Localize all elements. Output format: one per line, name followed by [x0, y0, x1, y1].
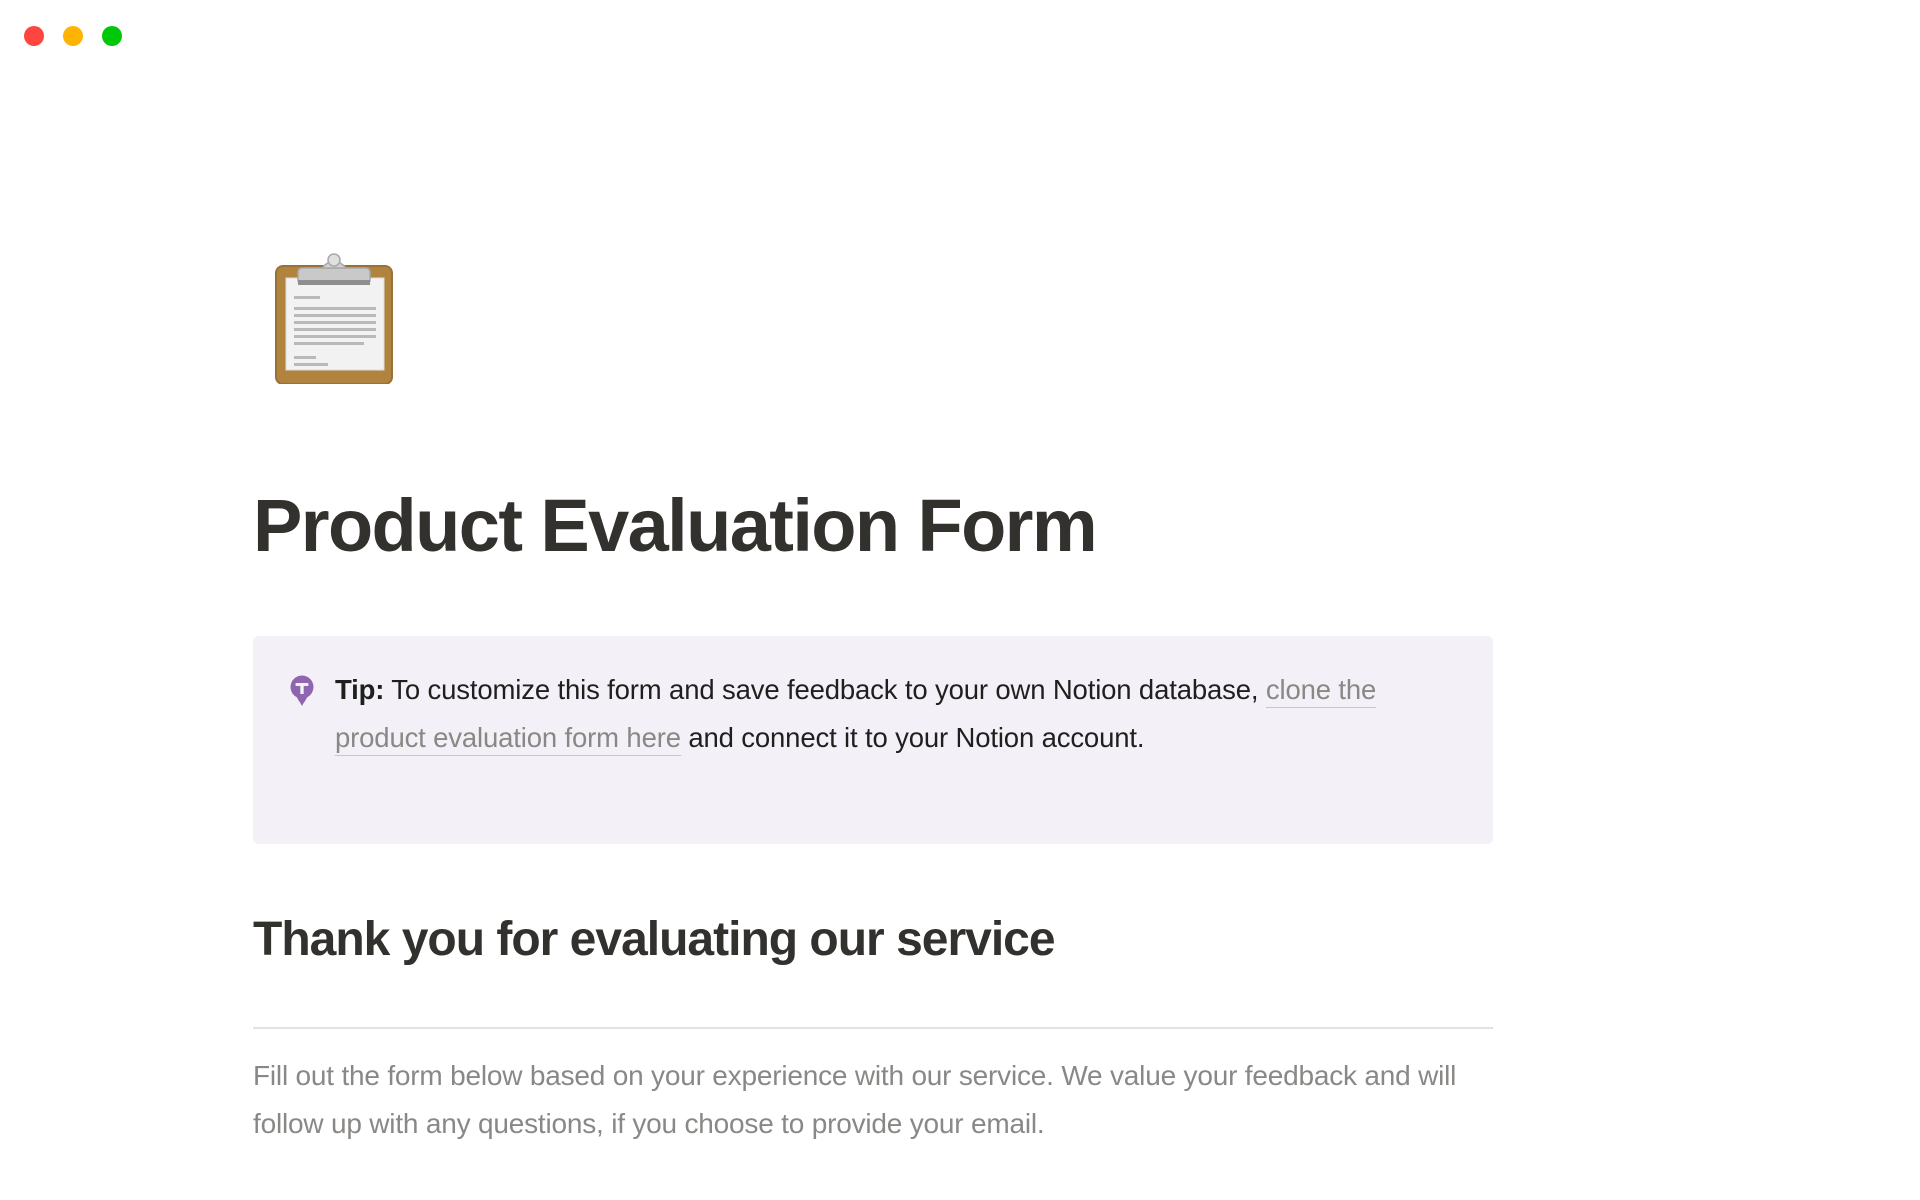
section-paragraph: Fill out the form below based on your ex… — [253, 1052, 1503, 1148]
page-title: Product Evaluation Form — [253, 485, 1553, 566]
section-divider — [253, 1027, 1493, 1029]
tip-callout-text: Tip: To customize this form and save fee… — [335, 664, 1459, 762]
page-content: Product Evaluation Form Tip: To customiz… — [0, 0, 1920, 1200]
tip-label: Tip: — [335, 674, 384, 705]
tip-text-before-link: To customize this form and save feedback… — [384, 674, 1258, 705]
tip-callout: Tip: To customize this form and save fee… — [253, 636, 1493, 844]
tip-text-after-link: and connect it to your Notion account. — [681, 722, 1144, 753]
section-heading: Thank you for evaluating our service — [253, 912, 1553, 967]
clipboard-icon[interactable] — [268, 252, 400, 384]
lightbulb-icon — [287, 674, 317, 708]
